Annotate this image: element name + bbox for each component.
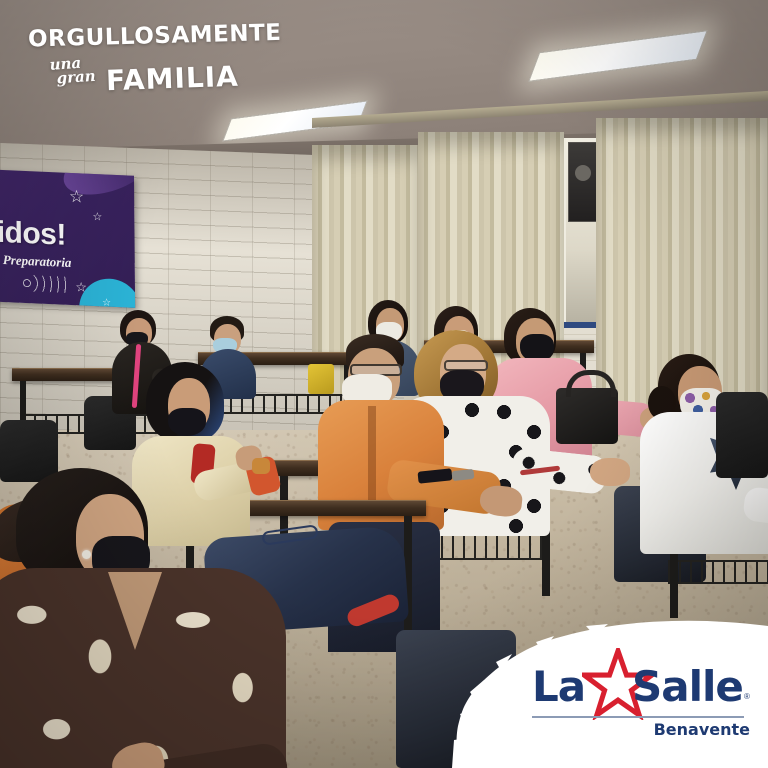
banner-star-icon: ☆ bbox=[69, 187, 84, 208]
banner-headline: venidos! bbox=[0, 214, 66, 253]
chair bbox=[716, 392, 768, 478]
banner-star-icon: ☆ bbox=[75, 279, 87, 296]
wall-fan-unit bbox=[568, 142, 598, 222]
banner-subtitle: Preparatoria bbox=[3, 252, 72, 271]
banner-star-icon: ☆ bbox=[92, 210, 102, 223]
banner-star-icon: ☆ bbox=[102, 297, 111, 307]
welcome-banner: ☆ ☆ ☆ ☆ venidos! Preparatoria bbox=[0, 168, 135, 308]
photo-canvas: ☆ ☆ ☆ ☆ venidos! Preparatoria bbox=[0, 0, 768, 768]
earring bbox=[82, 550, 91, 559]
shirt-placket bbox=[368, 406, 376, 514]
banner-wave-decoration bbox=[23, 275, 69, 293]
face-mask bbox=[168, 408, 206, 436]
hand bbox=[590, 458, 630, 486]
chair bbox=[396, 630, 516, 768]
person-foreground-woman bbox=[16, 468, 296, 768]
